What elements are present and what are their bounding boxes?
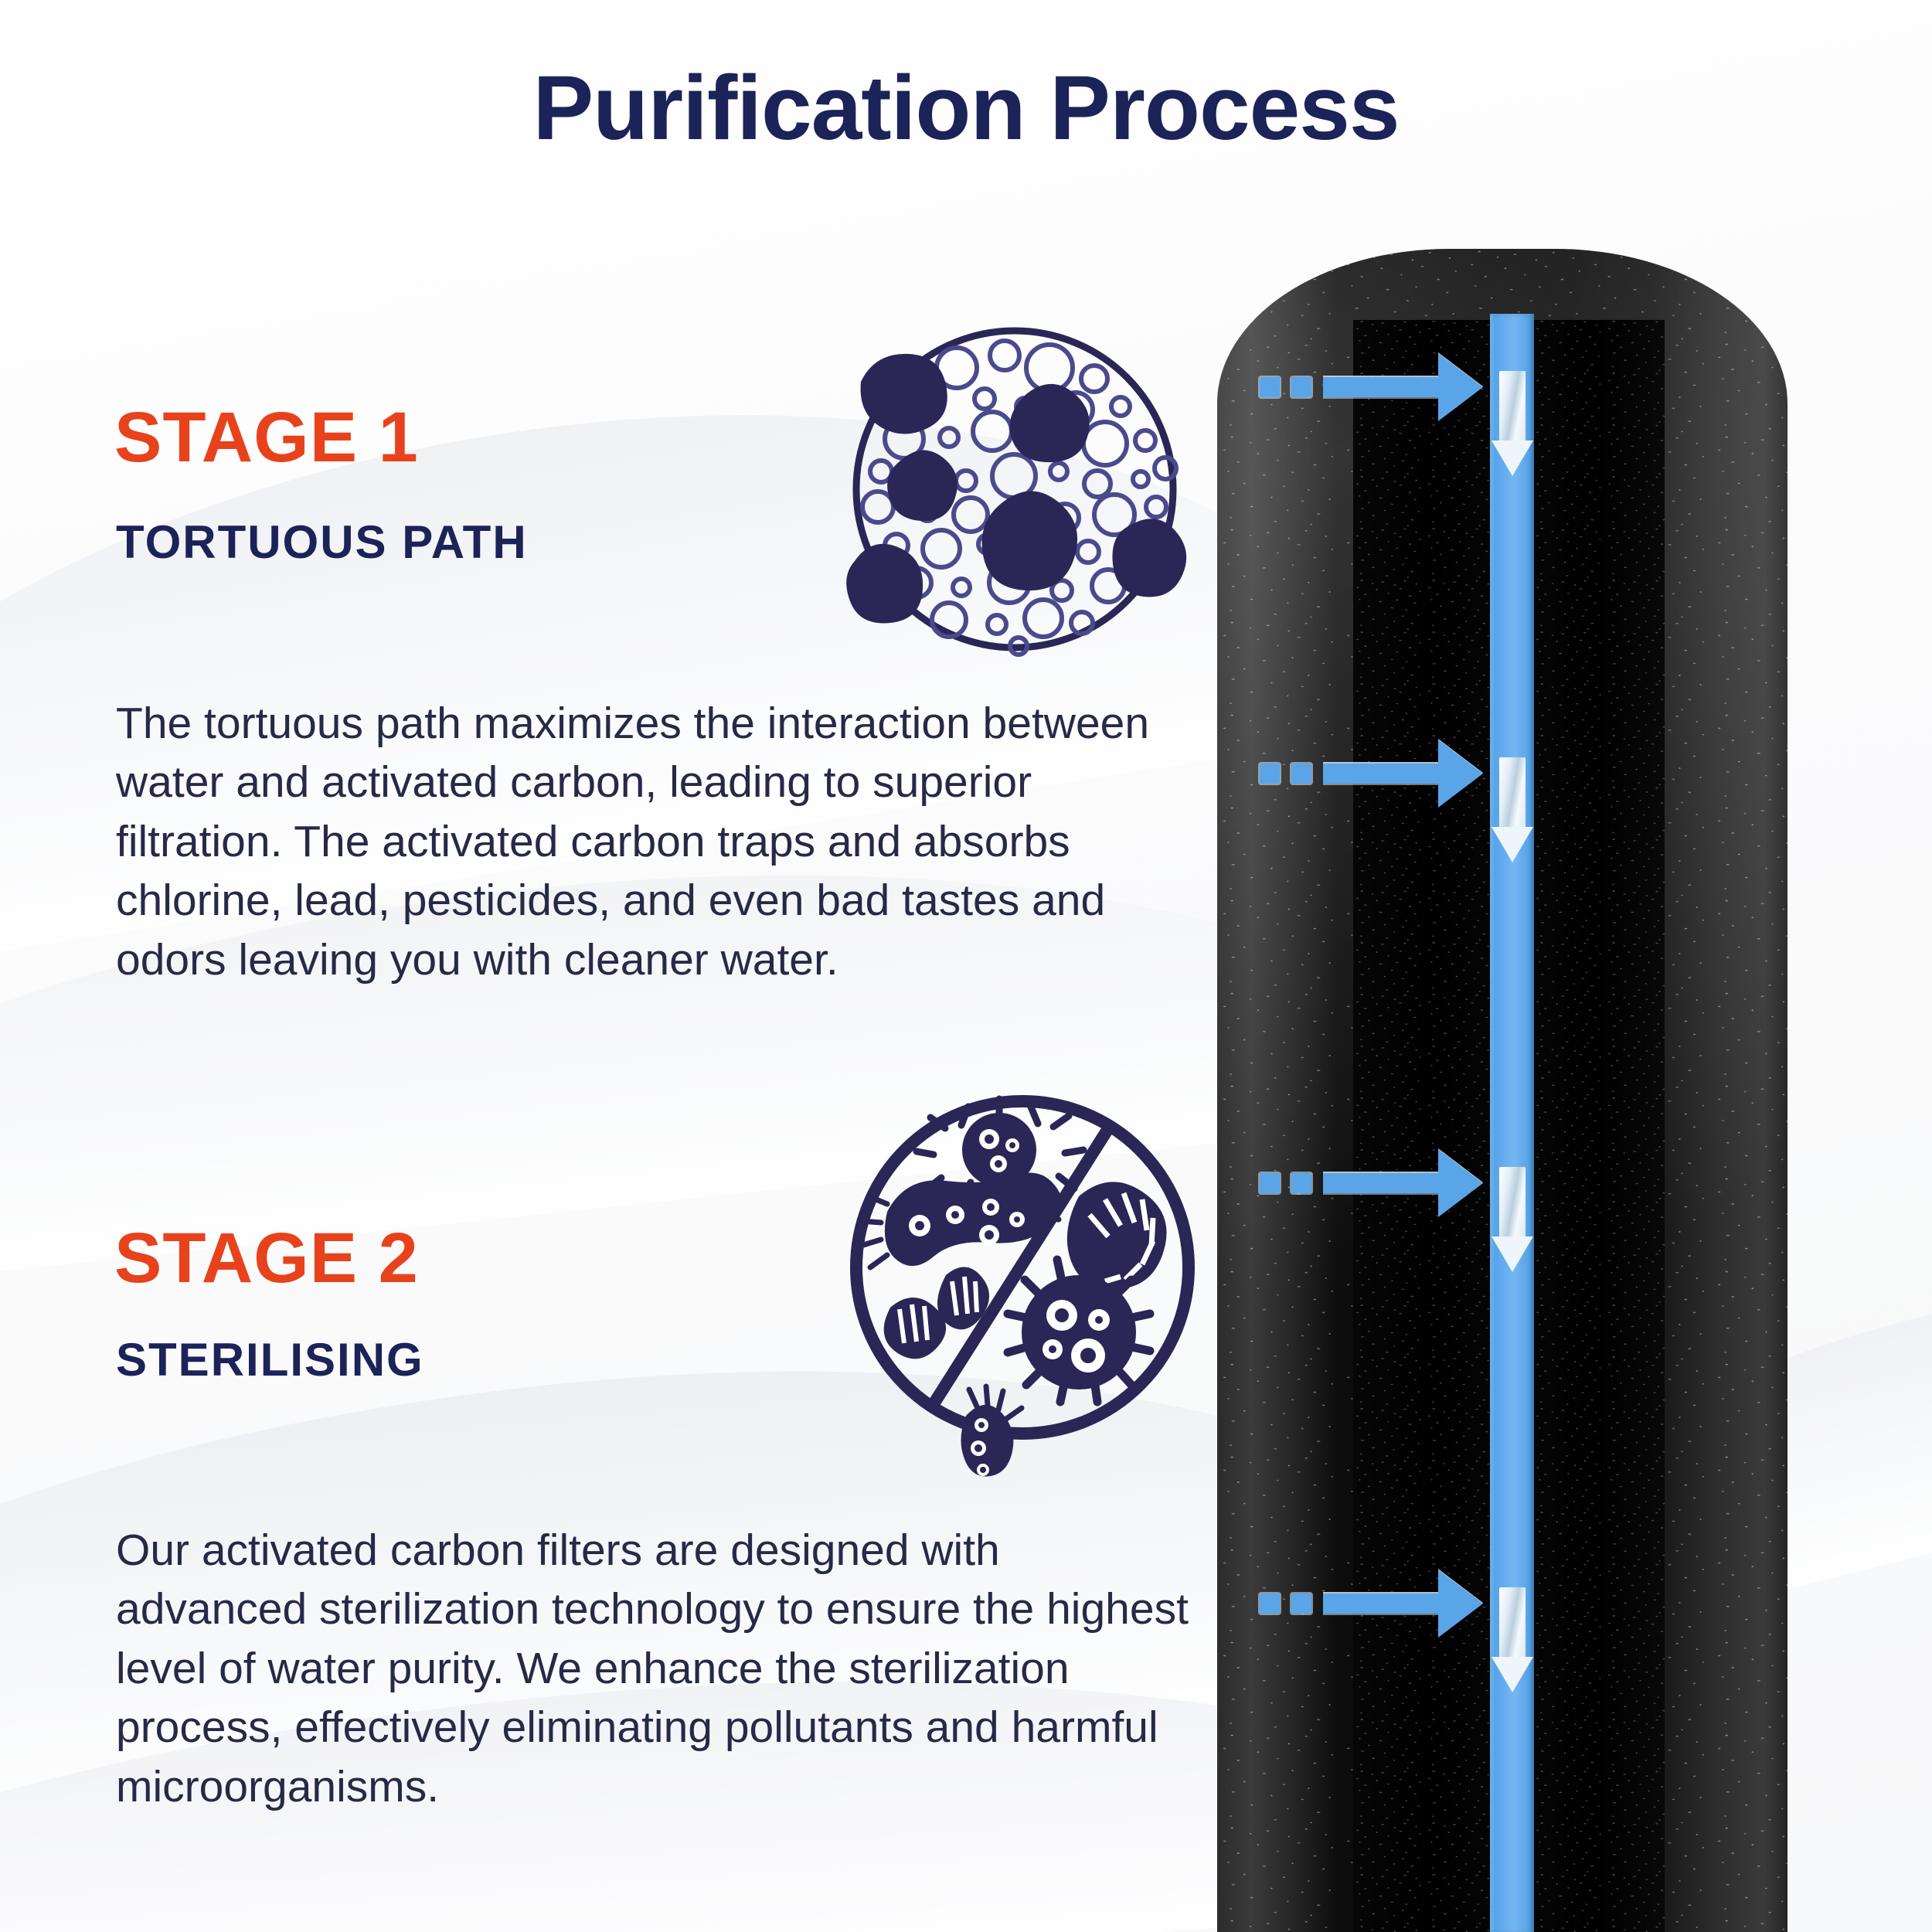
carbon-texture-inner-right: [1533, 320, 1665, 1932]
stage-1-body-text: The tortuous path maximizes the interact…: [116, 694, 1190, 989]
stage-2-body-text: Our activated carbon filters are designe…: [116, 1521, 1190, 1816]
no-bacteria-icon: [833, 1082, 1219, 1484]
cartridge-inner-cutaway-right: [1533, 320, 1665, 1932]
carbon-particles-icon: [833, 308, 1196, 671]
water-channel: [1490, 314, 1534, 1932]
infographic-page: Purification Process STAGE 1 TORTUOUS PA…: [0, 0, 1932, 1932]
stage-2-subtitle: STERILISING: [116, 1337, 424, 1383]
carbon-texture-inner-left: [1353, 320, 1490, 1932]
stage-1-subtitle: TORTUOUS PATH: [116, 519, 528, 566]
activated-carbon-filter-cartridge: [1217, 249, 1787, 1932]
stage-1-kicker: STAGE 1: [114, 402, 419, 473]
page-title: Purification Process: [0, 56, 1932, 161]
stage-2-kicker: STAGE 2: [114, 1223, 419, 1294]
cartridge-inner-cutaway-left: [1353, 320, 1490, 1932]
